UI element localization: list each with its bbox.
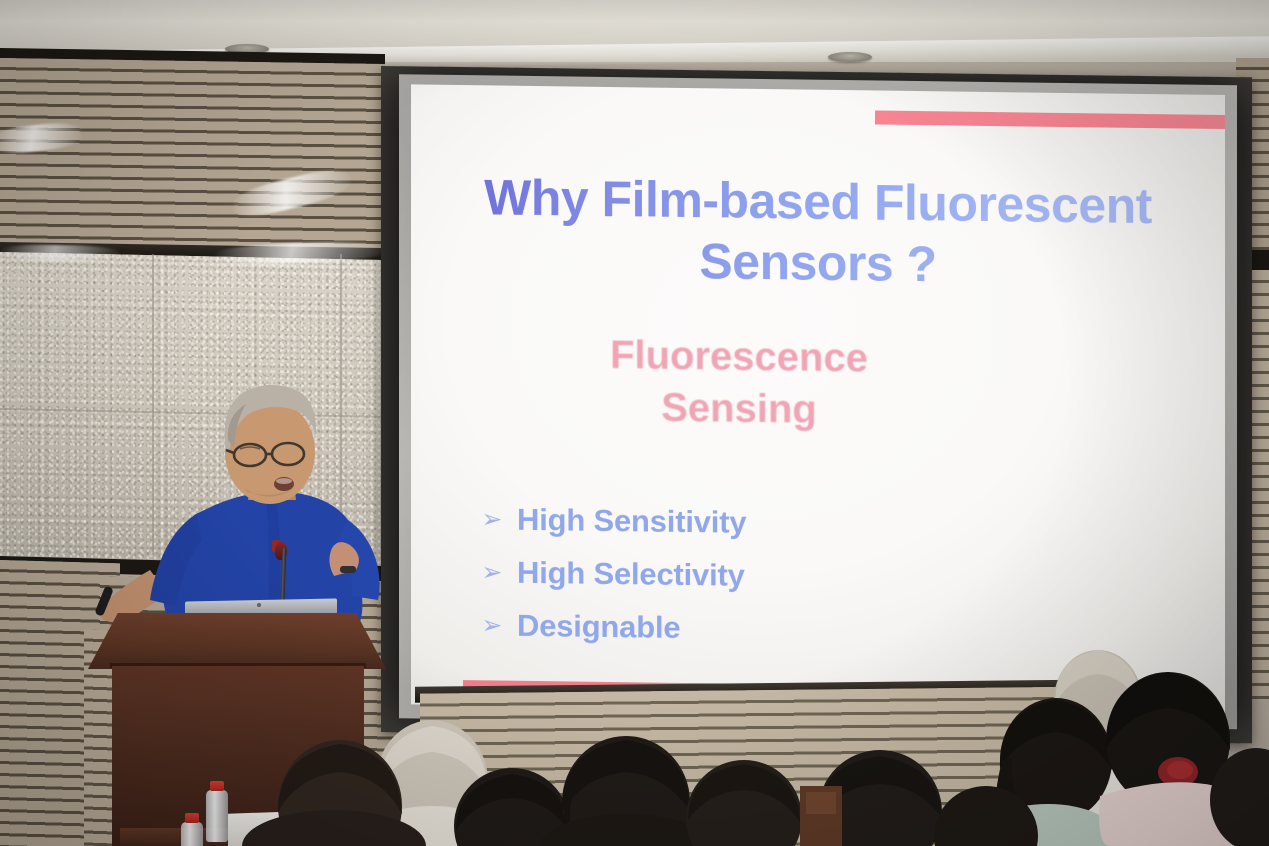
slide-subtitle-line-1: Fluorescence — [610, 333, 868, 380]
acoustic-slat-wall-upper-left — [0, 58, 385, 256]
slide-title: Why Film-based Fluorescent Sensors ? — [411, 166, 1225, 299]
slide-subtitle-line-2: Sensing — [661, 386, 817, 432]
slide-bullet-list: ➢ High Sensitivity ➢ High Selectivity ➢ … — [481, 501, 1081, 668]
scrunchie-highlight — [1167, 761, 1193, 779]
slide-content: Why Film-based Fluorescent Sensors ? Flu… — [411, 84, 1225, 715]
wall-seam — [152, 254, 154, 554]
water-bottle — [206, 790, 228, 842]
slide-subtitle: Fluorescence Sensing — [479, 327, 999, 438]
water-bottle — [181, 822, 203, 846]
slide-bullet-label: High Selectivity — [517, 555, 745, 594]
projected-slide: Why Film-based Fluorescent Sensors ? Flu… — [411, 84, 1225, 715]
bullet-arrow-icon: ➢ — [481, 507, 503, 532]
wall-seam — [340, 254, 342, 554]
slide-bullet-item: ➢ High Selectivity — [481, 554, 1081, 598]
slide-bullet-label: Designable — [517, 608, 680, 646]
bullet-arrow-icon: ➢ — [481, 613, 503, 638]
slide-title-line-2: Sensors ? — [699, 233, 936, 292]
podium-top — [88, 613, 386, 669]
bottle-cap — [185, 813, 199, 823]
bottle-cap — [210, 781, 224, 791]
slide-bullet-label: High Sensitivity — [517, 502, 746, 541]
bullet-arrow-icon: ➢ — [481, 560, 503, 585]
audience-head — [1210, 748, 1269, 846]
projection-screen: Why Film-based Fluorescent Sensors ? Flu… — [381, 66, 1252, 743]
slide-bullet-item: ➢ High Sensitivity — [481, 501, 1081, 545]
lecture-hall-photo: Why Film-based Fluorescent Sensors ? Flu… — [0, 0, 1269, 846]
paper-sheet — [228, 810, 328, 846]
slide-title-line-1: Why Film-based Fluorescent — [484, 169, 1152, 234]
audience-blouse — [1099, 782, 1256, 846]
screen-border: Why Film-based Fluorescent Sensors ? Flu… — [399, 74, 1237, 729]
sprinkler-icon — [828, 52, 872, 62]
ponytail — [1152, 784, 1216, 846]
laptop-hinge-dot — [257, 603, 261, 607]
scrunchie — [1158, 757, 1198, 787]
acoustic-slat-wall-center — [420, 686, 1120, 846]
slide-bullet-item: ➢ Designable — [481, 607, 1081, 651]
